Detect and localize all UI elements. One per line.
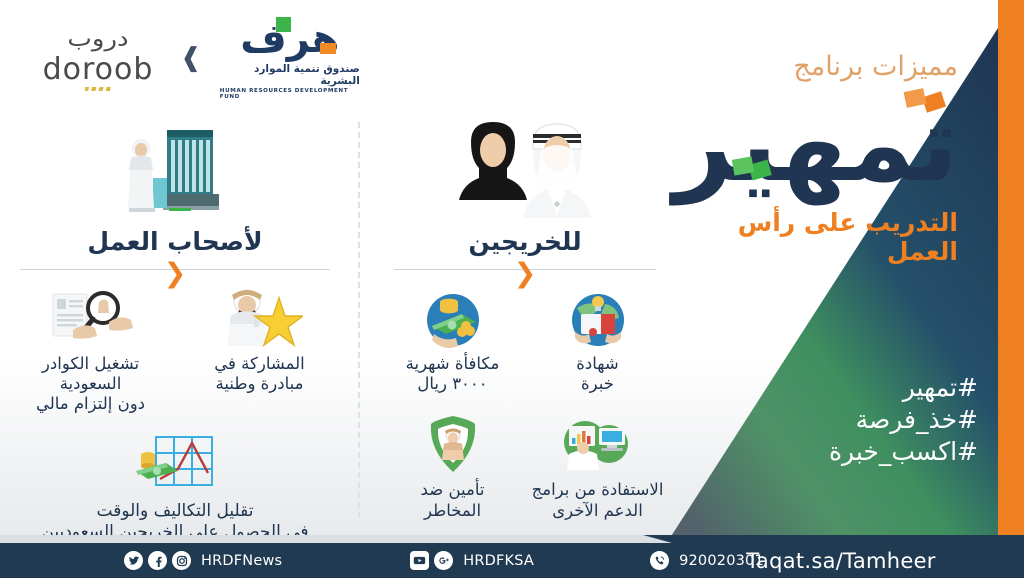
money-and-growth-chart-icon (132, 433, 218, 495)
facebook-icon[interactable] (148, 551, 167, 570)
benefit-caption: شهادة خبرة (576, 354, 618, 395)
footer-social-group-ksa: HRDFKSA (410, 551, 534, 570)
doroob-accent-dashes (85, 87, 111, 91)
footer-social-group-news: HRDFNews (124, 551, 282, 570)
benefit-row: المشاركة في مبادرة وطنية (6, 286, 344, 415)
twitter-icon[interactable] (124, 551, 143, 570)
benefit-caption-line: تشغيل الكوادر السعودية (10, 354, 171, 395)
header-logos: دروب doroob ❰ هرف صندوق تنمية الموارد ال… (34, 18, 360, 98)
benefit-caption-line: ٣٠٠٠ ريال (406, 374, 500, 394)
doroob-logo-arabic: دروب (67, 27, 128, 49)
benefit-item: تأمين ضد المخاطر (380, 412, 525, 521)
tamheer-logo: تمهير (658, 88, 958, 206)
training-programs-icon (563, 412, 633, 474)
hrdf-logo: هرف صندوق تنمية الموارد البشرية HUMAN RE… (220, 16, 360, 100)
page-subtitle: التدريب على رأس العمل (658, 208, 958, 266)
benefit-caption-line: دون إلتزام مالي (10, 394, 171, 414)
youtube-icon[interactable] (410, 551, 429, 570)
benefit-item: المشاركة في مبادرة وطنية (175, 286, 344, 415)
orange-side-bar (998, 0, 1024, 541)
footer-social-label: HRDFKSA (463, 553, 534, 569)
benefit-item: تشغيل الكوادر السعودية دون إلتزام مالي (6, 286, 175, 415)
certificate-globe-icon (567, 286, 629, 348)
doroob-logo-latin: doroob (43, 55, 154, 85)
benefit-caption-line: الاستفادة من برامج (532, 480, 664, 500)
benefit-row: تقليل التكاليف والوقت في الحصول على الخر… (6, 433, 344, 543)
hrdf-logo-mark: هرف (224, 16, 356, 62)
page-title-kicker: مميزات برنامج (658, 52, 958, 82)
benefit-caption: مكافأة شهرية ٣٠٠٠ ريال (406, 354, 500, 395)
column-divider (358, 122, 360, 518)
section-divider: ❮ (20, 266, 330, 282)
footer-notch (0, 535, 1024, 543)
benefit-item: الاستفادة من برامج الدعم الآخرى (525, 412, 670, 521)
benefit-caption: المشاركة في مبادرة وطنية (214, 354, 304, 395)
column-title-graduates: للخريجين (380, 228, 670, 256)
title-block: مميزات برنامج تمهير التدريب على رأس العم… (658, 52, 958, 266)
column-employers: لأصحاب العمل ❮ (6, 116, 344, 543)
benefit-caption: الاستفادة من برامج الدعم الآخرى (532, 480, 664, 521)
benefit-caption-line: المشاركة في (214, 354, 304, 374)
footer-social-label: HRDFNews (201, 553, 282, 569)
doroob-logo: دروب doroob (34, 26, 162, 91)
benefit-item: شهادة خبرة (525, 286, 670, 395)
chevron-down-icon: ❮ (514, 260, 537, 287)
hrdf-orange-square-icon (320, 43, 336, 54)
monthly-cash-reward-icon (422, 286, 484, 348)
chevron-down-icon: ❮ (164, 260, 187, 287)
benefit-item: مكافأة شهرية ٣٠٠٠ ريال (380, 286, 525, 395)
businessman-and-office-tower-icon (6, 116, 344, 220)
benefit-caption: تأمين ضد المخاطر (421, 480, 485, 521)
footer-website-url[interactable]: Taqat.sa/Tamheer (658, 543, 1024, 578)
section-divider: ❮ (394, 266, 656, 282)
magnifier-over-resumes-icon (43, 286, 139, 348)
hashtag-item: #خذ_فرصة (829, 404, 978, 436)
benefit-caption-line: مكافأة شهرية (406, 354, 500, 374)
infographic-poster: دروب doroob ❰ هرف صندوق تنمية الموارد ال… (0, 0, 1024, 578)
benefit-row: شهادة خبرة (380, 286, 670, 395)
benefit-caption-line: شهادة (576, 354, 618, 374)
hashtag-list: #تمهير #خذ_فرصة #اكسب_خبرة (829, 372, 978, 468)
benefit-caption: تشغيل الكوادر السعودية دون إلتزام مالي (10, 354, 171, 415)
shield-insurance-icon (423, 412, 483, 474)
hrdf-green-square-icon (276, 17, 291, 32)
benefit-row: الاستفادة من برامج الدعم الآخرى (380, 412, 670, 521)
column-title-employers: لأصحاب العمل (6, 228, 344, 256)
green-tile-icon-2 (732, 156, 754, 175)
benefit-caption-line: مبادرة وطنية (214, 374, 304, 394)
benefit-caption-line: خبرة (576, 374, 618, 394)
hrdf-arabic-name: صندوق تنمية الموارد البشرية (220, 63, 360, 87)
benefit-caption-line: تأمين ضد (421, 480, 485, 500)
hashtag-item: #اكسب_خبرة (829, 436, 978, 468)
saudi-graduates-couple-icon (380, 116, 670, 220)
man-with-star-icon (217, 286, 303, 348)
footer-bar: HRDFNews HRDFKSA 920020301 Taqat.sa/Tamh… (0, 535, 1024, 578)
hashtag-item: #تمهير (829, 372, 978, 404)
instagram-icon[interactable] (172, 551, 191, 570)
column-graduates: للخريجين ❮ (380, 116, 670, 521)
google-plus-icon[interactable] (434, 551, 453, 570)
benefit-caption-line: المخاطر (421, 501, 485, 521)
chevron-left-icon: ❰ (178, 45, 204, 71)
hrdf-english-name: HUMAN RESOURCES DEVELOPMENT FUND (220, 88, 360, 100)
benefit-item: تقليل التكاليف والوقت في الحصول على الخر… (37, 433, 312, 543)
benefit-caption-line: الدعم الآخرى (532, 501, 664, 521)
benefit-caption-line: تقليل التكاليف والوقت (41, 501, 308, 522)
